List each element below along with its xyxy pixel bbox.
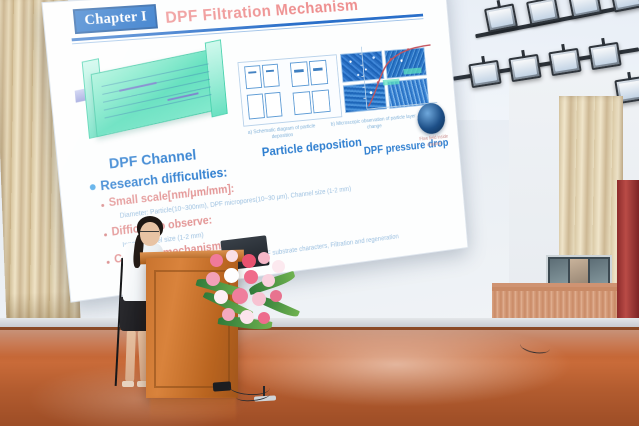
bullet-dot-icon (101, 204, 104, 207)
flower (258, 312, 270, 324)
bullet-dot-icon (90, 184, 96, 191)
chapter-badge: Chapter I (73, 4, 159, 34)
flower (244, 270, 258, 284)
flower (252, 292, 266, 306)
bullet-dot-icon (104, 233, 107, 236)
schematic-cell (247, 93, 265, 119)
presenter-leg (125, 330, 136, 382)
flower (222, 308, 235, 321)
flow-field-orb (416, 102, 446, 135)
spotlight-icon (508, 54, 541, 82)
flower (224, 268, 239, 283)
schematic-cell (293, 91, 312, 115)
flower (206, 272, 220, 286)
spotlight-icon (588, 42, 621, 70)
flower (240, 310, 254, 324)
flower-arrangement (200, 248, 296, 340)
podium-reflection (150, 398, 236, 424)
schematic-cell (309, 60, 328, 86)
flower (258, 252, 270, 264)
flower (232, 288, 248, 304)
flower (214, 290, 228, 304)
flower (226, 250, 238, 262)
presenter-shoe (122, 381, 134, 387)
flower (210, 254, 223, 267)
schematic-cell (264, 92, 282, 118)
schematic-cell (262, 64, 280, 88)
flower (242, 254, 256, 268)
spotlight-icon (468, 60, 501, 88)
flower (270, 290, 282, 302)
flower (272, 260, 285, 273)
glasses-icon (140, 231, 159, 237)
schematic-cell (244, 65, 262, 89)
flower (262, 274, 275, 287)
stage-curtain-accent (617, 180, 639, 330)
presentation-photo: Chapter I DPF Filtration Mechanism (0, 0, 639, 426)
spotlight-icon (548, 48, 581, 76)
schematic-cell (290, 61, 309, 87)
deposition-schematic (237, 54, 342, 126)
bullet-dot-icon (107, 261, 110, 264)
schematic-cell (312, 89, 331, 113)
slide-title: DPF Filtration Mechanism (165, 0, 359, 28)
stage-riser (0, 318, 639, 327)
dpf-filter-diagram (71, 42, 237, 149)
